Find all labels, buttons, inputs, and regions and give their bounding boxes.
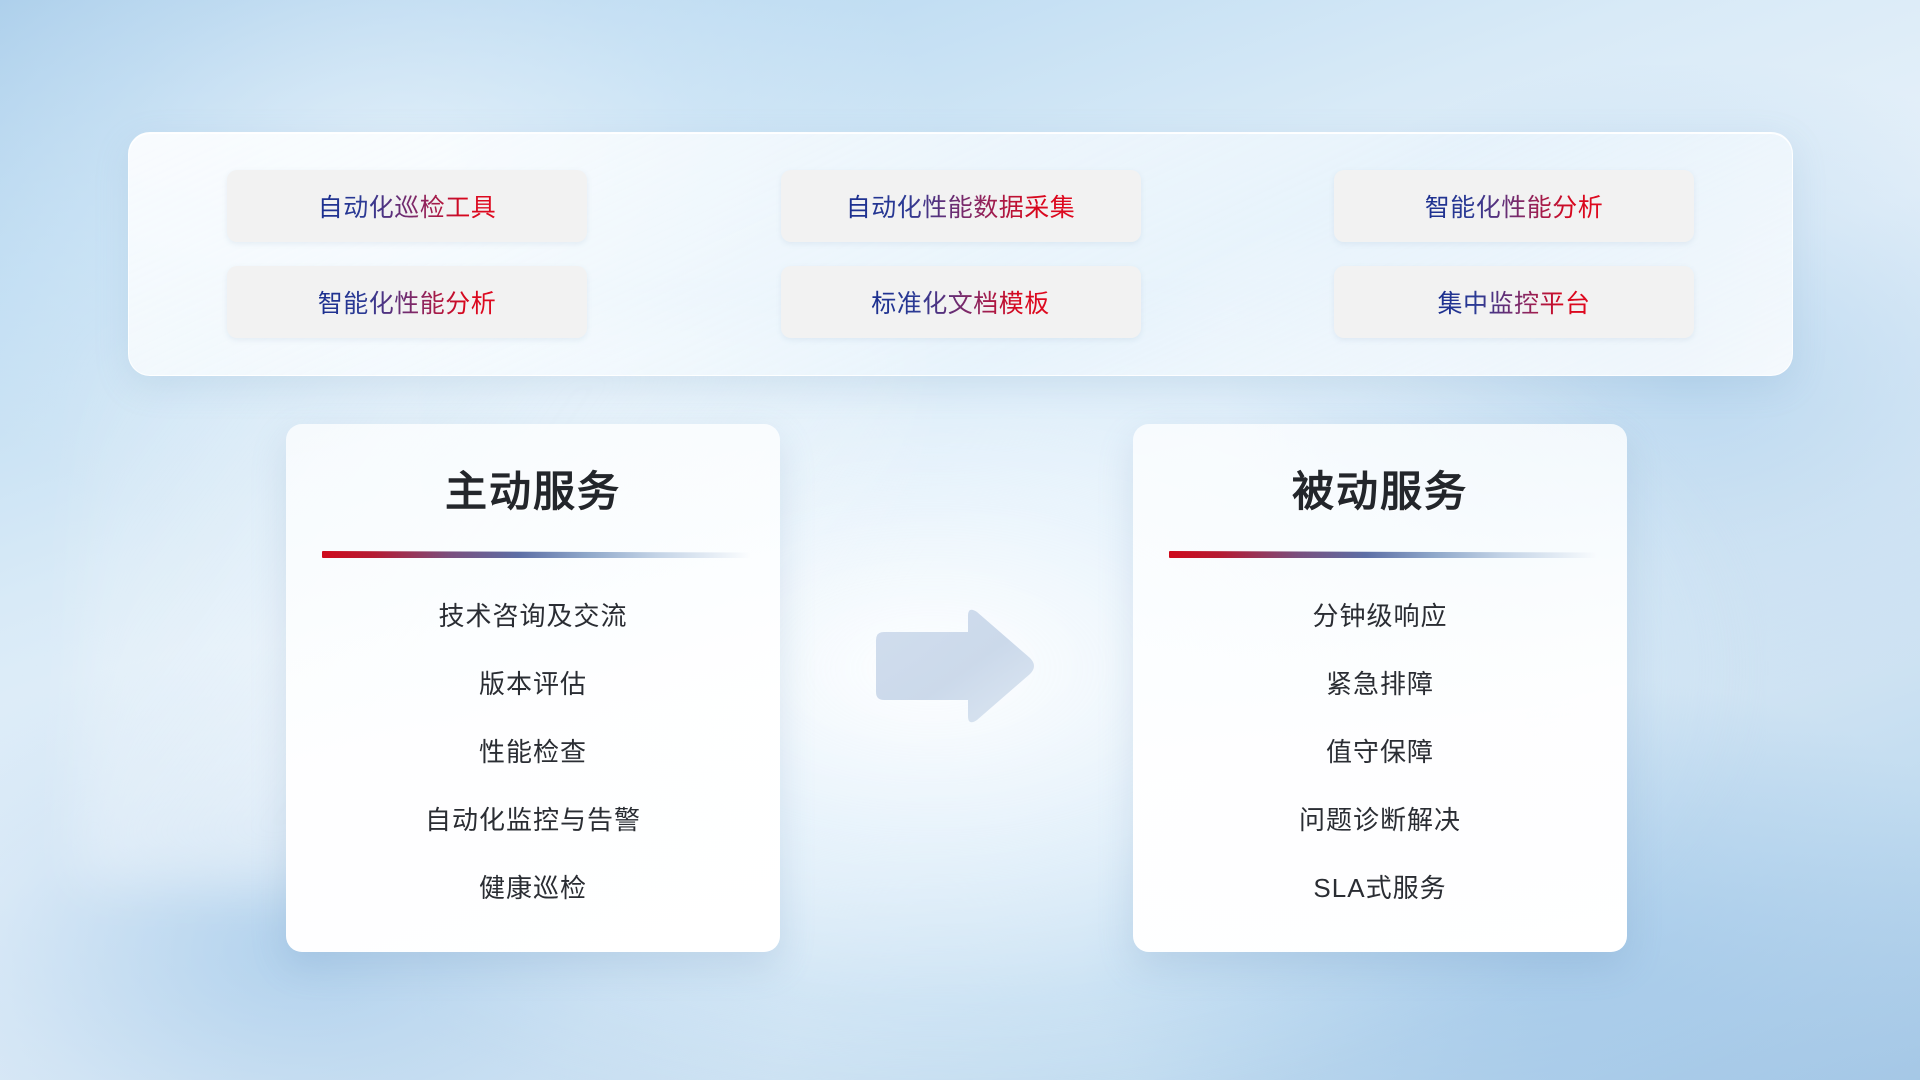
- capability-tag-row: 智能化性能分析 标准化文档模板 集中监控平台: [227, 266, 1694, 338]
- service-card-title: 被动服务: [1167, 458, 1593, 519]
- service-card-title: 主动服务: [320, 458, 746, 519]
- service-item: 健康巡检: [479, 868, 587, 905]
- capability-tag[interactable]: 智能化性能分析: [1334, 170, 1694, 242]
- service-item-list: 分钟级响应 紧急排障 值守保障 问题诊断解决 SLA式服务: [1167, 596, 1593, 905]
- service-card-active: 主动服务 技术咨询及交流 版本评估 性能检查 自动化监控与告警 健康巡检: [286, 424, 780, 952]
- service-item: 技术咨询及交流: [438, 596, 627, 633]
- service-item: SLA式服务: [1313, 868, 1446, 905]
- arrow-right-icon: [872, 606, 1037, 726]
- capability-tag-label: 智能化性能分析: [1425, 188, 1604, 224]
- service-item: 自动化监控与告警: [425, 800, 641, 837]
- capability-tag-label: 自动化性能数据采集: [846, 188, 1076, 224]
- capability-tag-label: 智能化性能分析: [318, 284, 497, 320]
- title-underline-accent: [1169, 551, 1597, 558]
- capability-tag[interactable]: 智能化性能分析: [227, 266, 587, 338]
- service-item-list: 技术咨询及交流 版本评估 性能检查 自动化监控与告警 健康巡检: [320, 596, 746, 905]
- capability-tags-panel: 自动化巡检工具 自动化性能数据采集 智能化性能分析 智能化性能分析 标准化文档模…: [128, 132, 1793, 376]
- service-item: 分钟级响应: [1312, 596, 1447, 633]
- capability-tag-label: 标准化文档模板: [871, 284, 1050, 320]
- title-underline-accent: [322, 551, 750, 558]
- service-item: 版本评估: [479, 664, 587, 701]
- service-item: 紧急排障: [1326, 664, 1434, 701]
- capability-tag[interactable]: 自动化巡检工具: [227, 170, 587, 242]
- capability-tag-row: 自动化巡检工具 自动化性能数据采集 智能化性能分析: [227, 170, 1694, 242]
- capability-tag-label: 自动化巡检工具: [318, 188, 497, 224]
- service-card-passive: 被动服务 分钟级响应 紧急排障 值守保障 问题诊断解决 SLA式服务: [1133, 424, 1627, 952]
- service-item: 问题诊断解决: [1299, 800, 1461, 837]
- service-item: 值守保障: [1326, 732, 1434, 769]
- capability-tag[interactable]: 集中监控平台: [1334, 266, 1694, 338]
- capability-tag-label: 集中监控平台: [1437, 284, 1590, 320]
- capability-tag[interactable]: 自动化性能数据采集: [781, 170, 1141, 242]
- capability-tag[interactable]: 标准化文档模板: [781, 266, 1141, 338]
- service-item: 性能检查: [479, 732, 587, 769]
